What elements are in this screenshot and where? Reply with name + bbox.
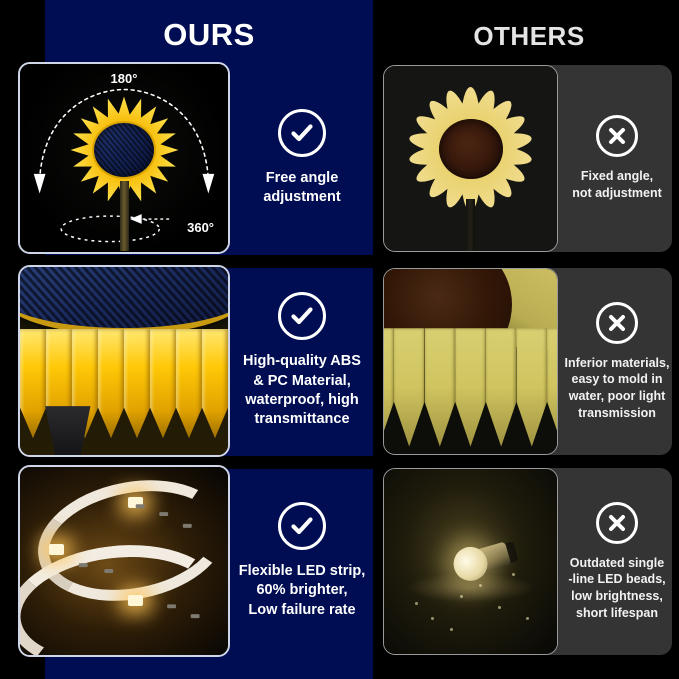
comparison-row-3: Flexible LED strip, 60% brighter, Low fa… — [0, 465, 679, 660]
ours-caption-3: Flexible LED strip, 60% brighter, Low fa… — [239, 562, 366, 620]
ours-image-sunflower-angle: 180° 360° — [18, 62, 230, 254]
flower-center-disc — [439, 119, 503, 179]
ours-image-led-strip — [18, 465, 230, 657]
cross-circle-icon — [596, 115, 638, 157]
label-180-degrees: 180° — [111, 71, 138, 86]
ours-header: OURS — [45, 17, 373, 53]
check-circle-icon — [278, 109, 326, 157]
flower-stem — [120, 181, 129, 251]
comparison-board: OURS OTHERS — [0, 0, 679, 679]
others-caption-3: Outdated single -line LED beads, low bri… — [568, 555, 665, 622]
others-caption-1: Fixed angle, not adjustment — [572, 168, 662, 202]
solar-panel-disc — [92, 121, 156, 179]
others-caption-2: Inferior materials, easy to mold in wate… — [565, 355, 670, 422]
petal-fan — [383, 328, 558, 446]
ours-caption-2: High-quality ABS & PC Material, waterpro… — [243, 352, 361, 429]
solar-panel-surface — [18, 265, 230, 335]
ours-feature-2: High-quality ABS & PC Material, waterpro… — [234, 265, 370, 457]
others-image-wet-led-bead — [383, 468, 558, 655]
ours-feature-1: Free angle adjustment — [234, 62, 370, 254]
others-feature-2: Inferior materials, easy to mold in wate… — [562, 268, 672, 455]
ours-image-material-macro — [18, 265, 230, 457]
cross-circle-icon — [596, 302, 638, 344]
water-droplets — [384, 469, 557, 654]
sunflower-photo-graphic — [405, 87, 537, 211]
others-image-plain-sunflower — [383, 65, 558, 252]
comparison-row-2: High-quality ABS & PC Material, waterpro… — [0, 265, 679, 460]
others-image-sunflower-closeup — [383, 268, 558, 455]
check-circle-icon — [278, 292, 326, 340]
ours-caption-1: Free angle adjustment — [263, 169, 340, 208]
ours-feature-3: Flexible LED strip, 60% brighter, Low fa… — [234, 465, 370, 657]
others-feature-1: Fixed angle, not adjustment — [562, 65, 672, 252]
label-360-degrees: 360° — [187, 220, 214, 235]
check-circle-icon — [278, 502, 326, 550]
others-header: OTHERS — [385, 21, 673, 52]
flower-stem — [466, 199, 475, 252]
led-strip-solder-pads — [20, 467, 228, 655]
others-feature-3: Outdated single -line LED beads, low bri… — [562, 468, 672, 655]
cross-circle-icon — [596, 502, 638, 544]
comparison-row-1: 180° 360° Free angle adjustment — [0, 62, 679, 257]
